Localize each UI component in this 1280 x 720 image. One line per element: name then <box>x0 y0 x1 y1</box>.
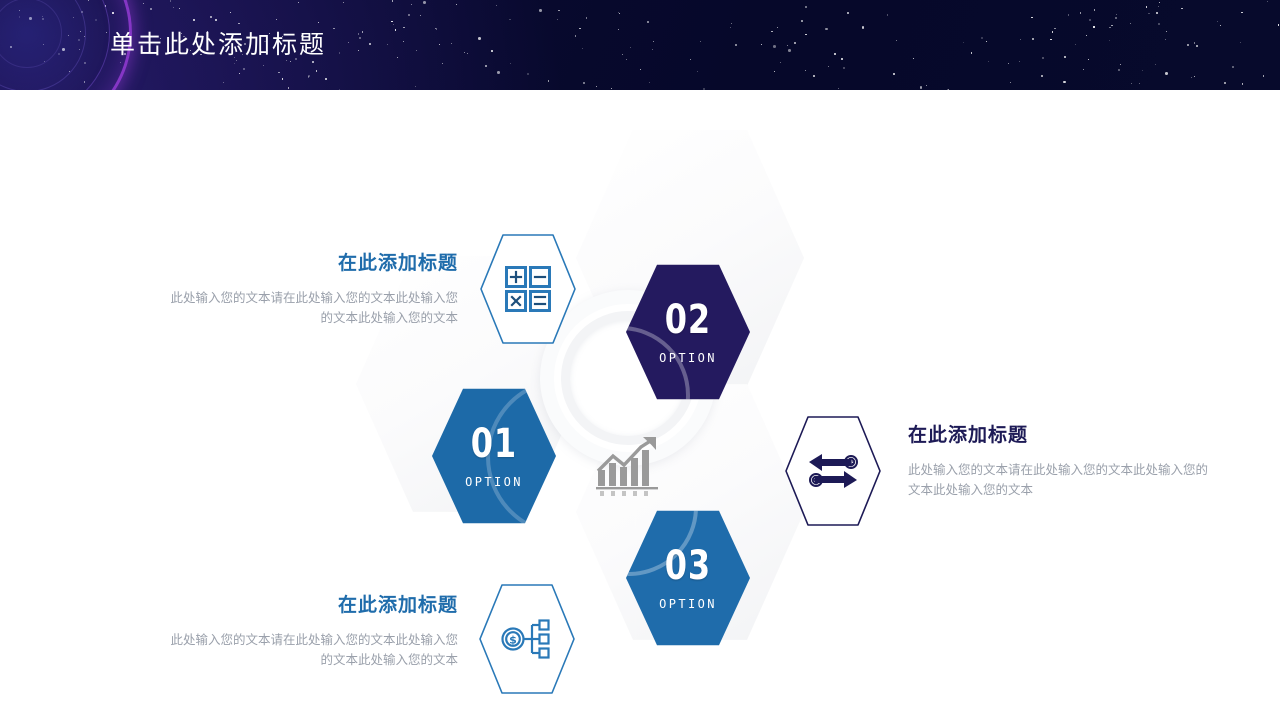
option-caption: OPTION <box>659 597 717 611</box>
text-block-bottom-left: 在此添加标题 此处输入您的文本请在此处输入您的文本此处输入您的文本此处输入您的文… <box>166 590 458 670</box>
option-caption: OPTION <box>465 475 523 489</box>
money-distribution-icon: $ <box>501 618 553 660</box>
option-caption: OPTION <box>659 351 717 365</box>
text-block-title: 在此添加标题 <box>166 248 458 275</box>
icon-badge-money-exchange[interactable]: $ $ <box>783 414 883 528</box>
option-number: 03 <box>665 546 711 586</box>
option-number: 02 <box>665 300 711 340</box>
text-block-body: 此处输入您的文本请在此处输入您的文本此处输入您的文本此处输入您的文本 <box>166 288 458 328</box>
svg-text:$: $ <box>813 477 819 486</box>
text-block-right: 在此添加标题 此处输入您的文本请在此处输入您的文本此处输入您的文本此处输入您的文… <box>908 420 1208 500</box>
text-block-title: 在此添加标题 <box>166 590 458 617</box>
calculator-icon <box>505 266 551 312</box>
text-block-body: 此处输入您的文本请在此处输入您的文本此处输入您的文本此处输入您的文本 <box>166 630 458 670</box>
diagram-stage: 01 OPTION 02 OPTION 03 OPTION <box>0 90 1280 720</box>
text-block-top-left: 在此添加标题 此处输入您的文本请在此处输入您的文本此处输入您的文本此处输入您的文… <box>166 248 458 328</box>
option-number: 01 <box>471 424 517 464</box>
svg-text:$: $ <box>509 634 517 647</box>
slide-header: 单击此处添加标题 <box>0 0 1280 90</box>
text-block-title: 在此添加标题 <box>908 420 1208 447</box>
icon-badge-calculator[interactable] <box>478 232 578 346</box>
svg-text:$: $ <box>848 459 854 468</box>
text-block-body: 此处输入您的文本请在此处输入您的文本此处输入您的文本此处输入您的文本 <box>908 460 1208 500</box>
page-title: 单击此处添加标题 <box>110 0 326 90</box>
growth-bar-chart-icon <box>594 434 662 501</box>
money-exchange-arrows-icon: $ $ <box>807 451 859 491</box>
icon-badge-money-distribution[interactable]: $ <box>477 582 577 696</box>
